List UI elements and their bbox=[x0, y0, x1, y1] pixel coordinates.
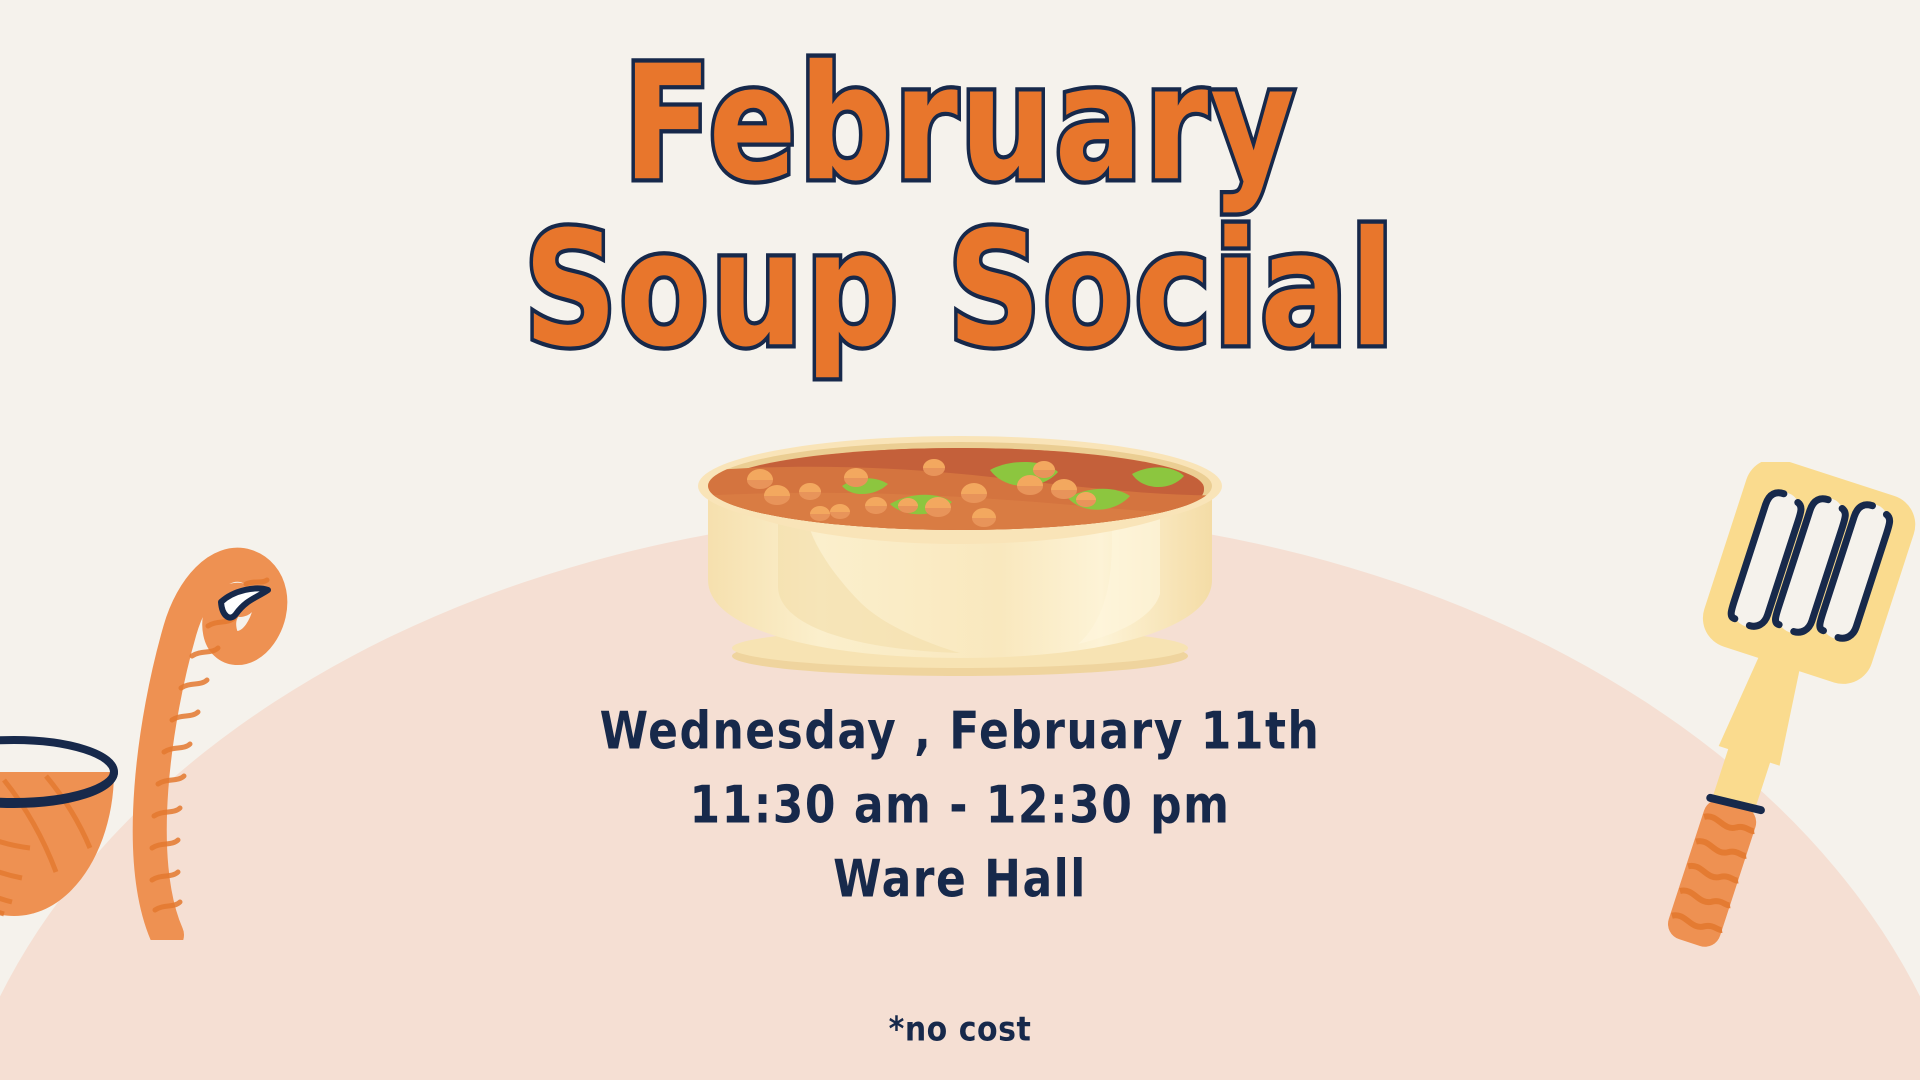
poster-canvas: February Soup Social bbox=[0, 0, 1920, 1080]
soup-ladle-icon bbox=[0, 480, 314, 940]
ladle-illustration bbox=[0, 480, 314, 940]
cost-footnote: *no cost bbox=[0, 1010, 1920, 1050]
soup-bowl-icon bbox=[660, 434, 1260, 684]
page-title: February Soup Social bbox=[0, 44, 1920, 340]
title-line-1: February bbox=[0, 44, 1920, 203]
title-line-2: Soup Social bbox=[0, 210, 1920, 369]
soup-bowl-illustration bbox=[660, 434, 1260, 684]
spatula-illustration bbox=[1616, 462, 1920, 962]
kitchen-spatula-icon bbox=[1616, 462, 1920, 962]
